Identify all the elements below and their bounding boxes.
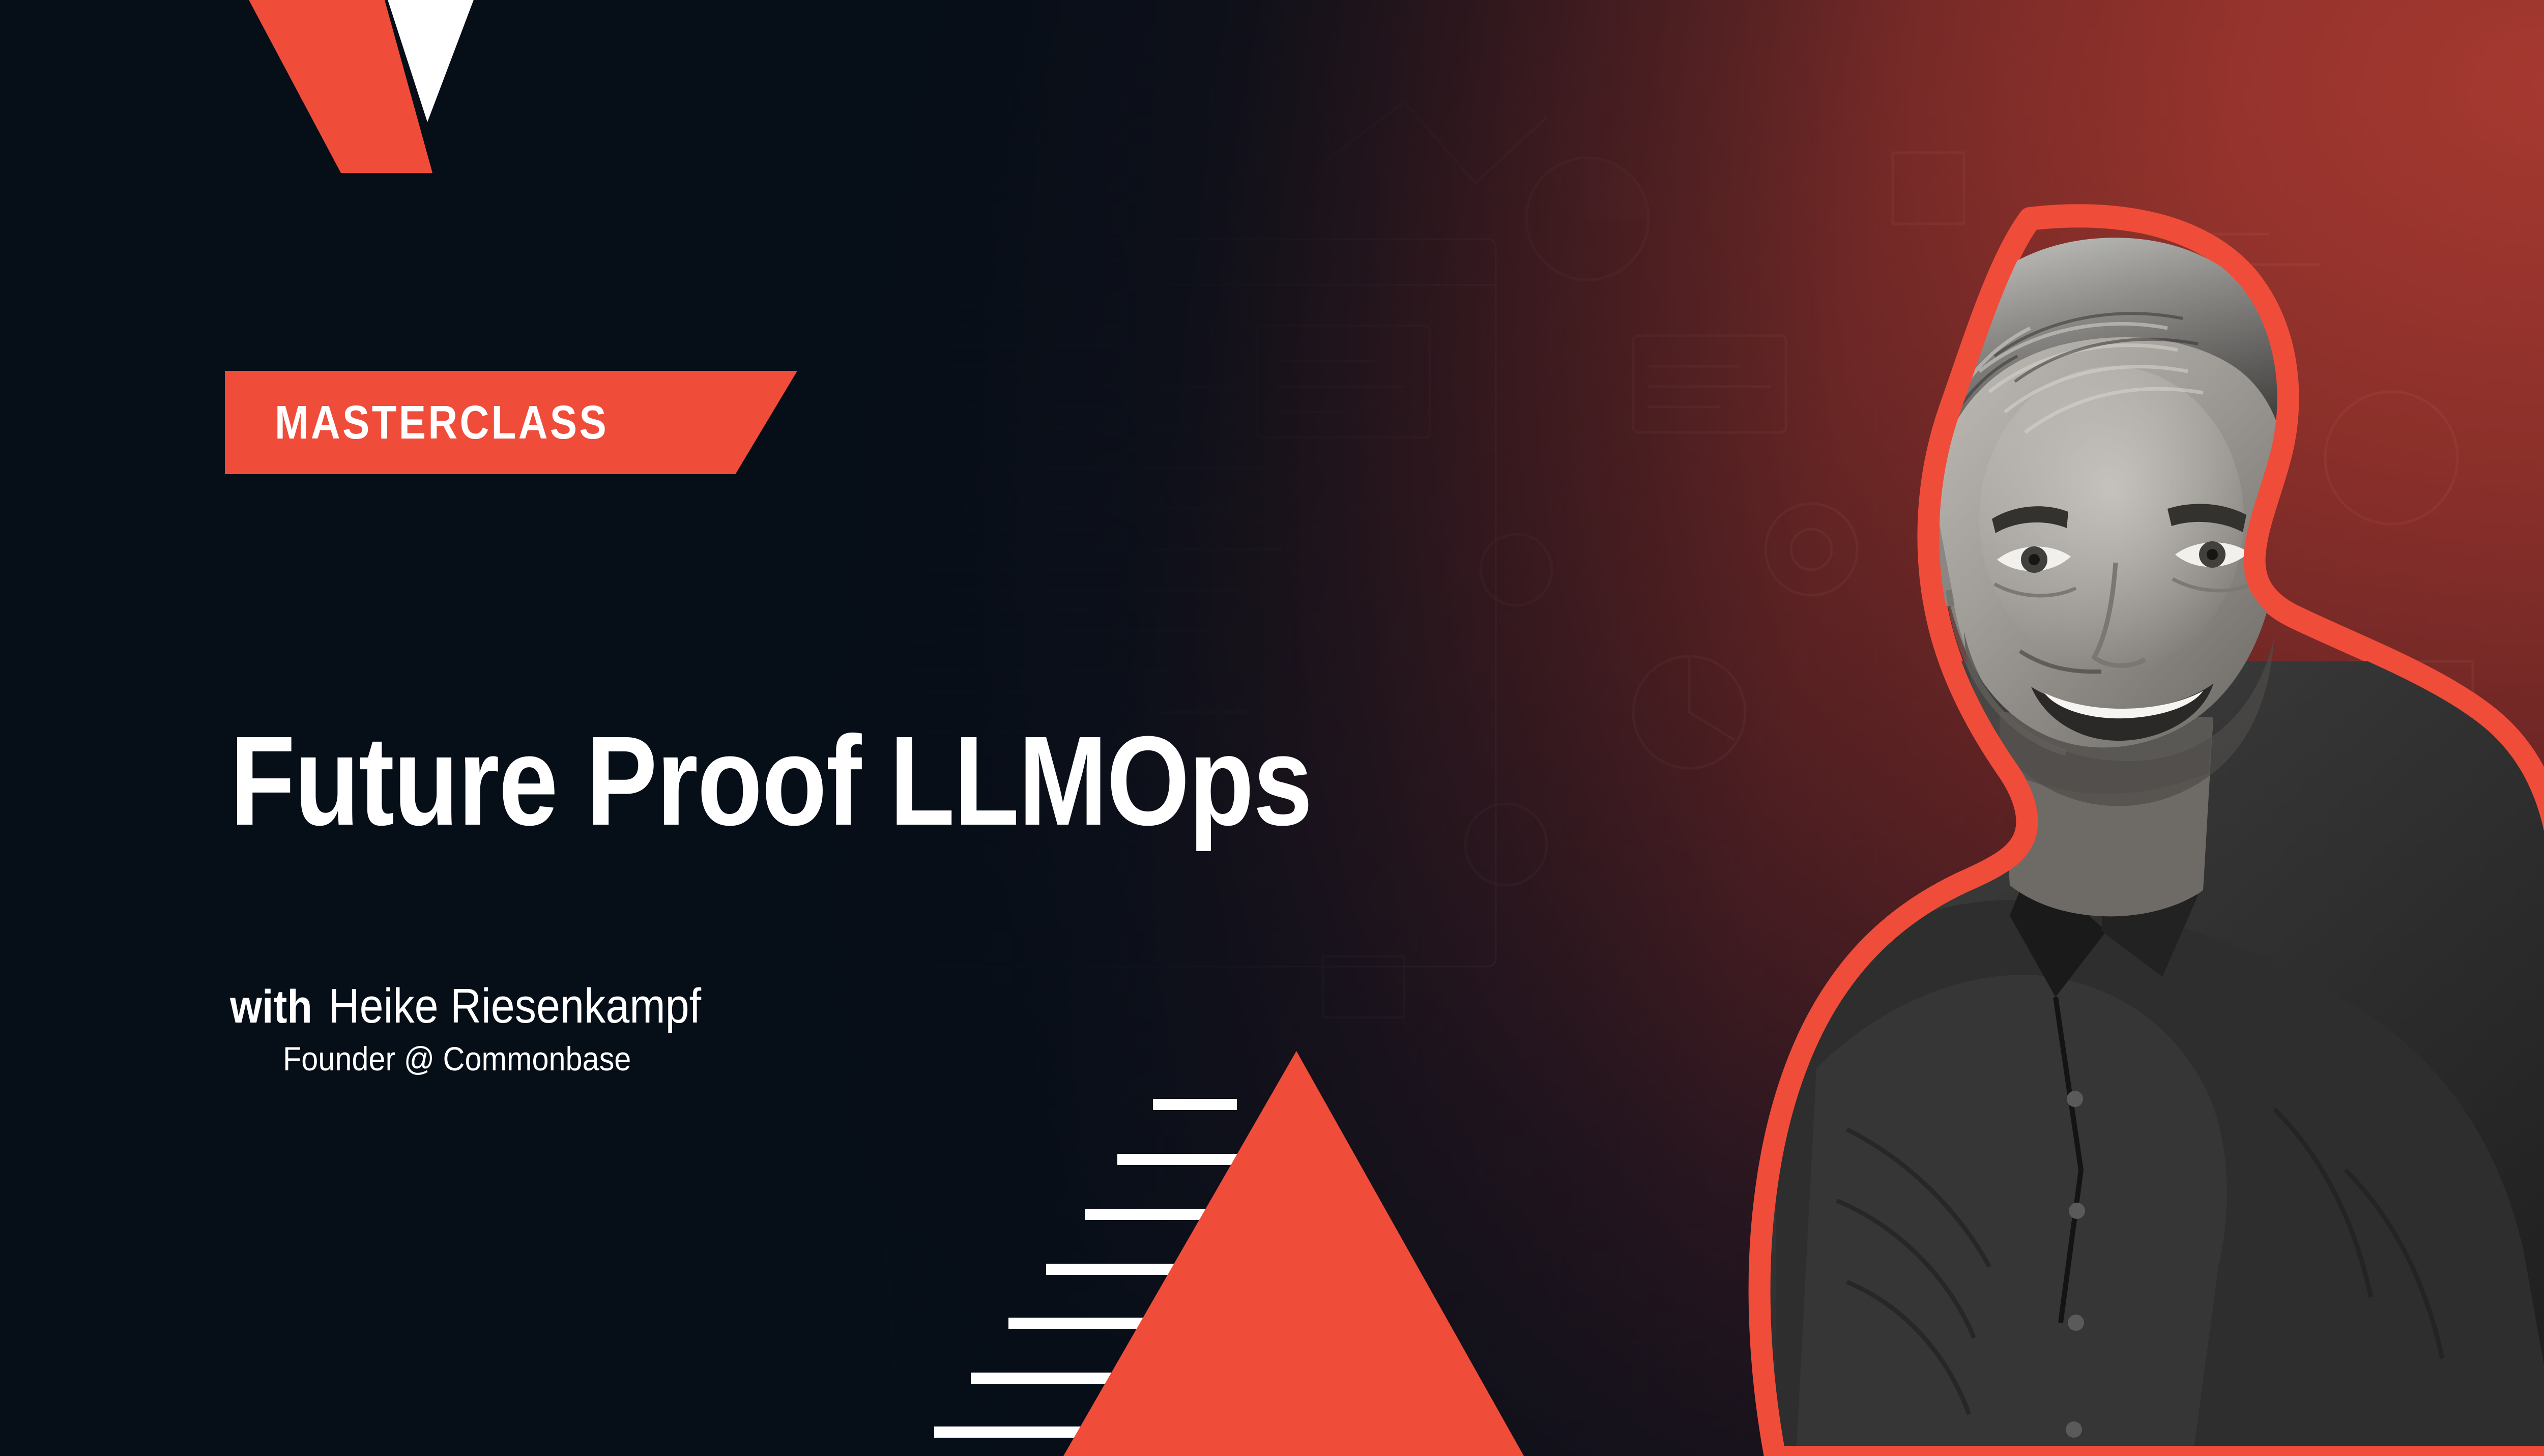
masterclass-banner: MASTERCLASS Future Proof LLMOps with Hei… bbox=[0, 0, 2544, 1456]
stair-bar bbox=[1117, 1154, 1237, 1165]
page-title: Future Proof LLMOps bbox=[230, 717, 1312, 845]
stair-bars bbox=[0, 1048, 1272, 1456]
speaker-prefix: with bbox=[230, 983, 312, 1030]
speaker-name: Heike Riesenkampf bbox=[329, 982, 701, 1031]
stair-bar bbox=[971, 1373, 1123, 1384]
speaker-portrait bbox=[1491, 203, 2544, 1456]
v-logo-mark bbox=[214, 0, 580, 239]
badge-label: MASTERCLASS bbox=[275, 371, 609, 474]
masterclass-badge: MASTERCLASS bbox=[225, 371, 797, 474]
stair-bar bbox=[1153, 1099, 1237, 1110]
speaker-name-line: with Heike Riesenkampf bbox=[230, 982, 902, 1031]
stair-bar bbox=[934, 1426, 1082, 1438]
